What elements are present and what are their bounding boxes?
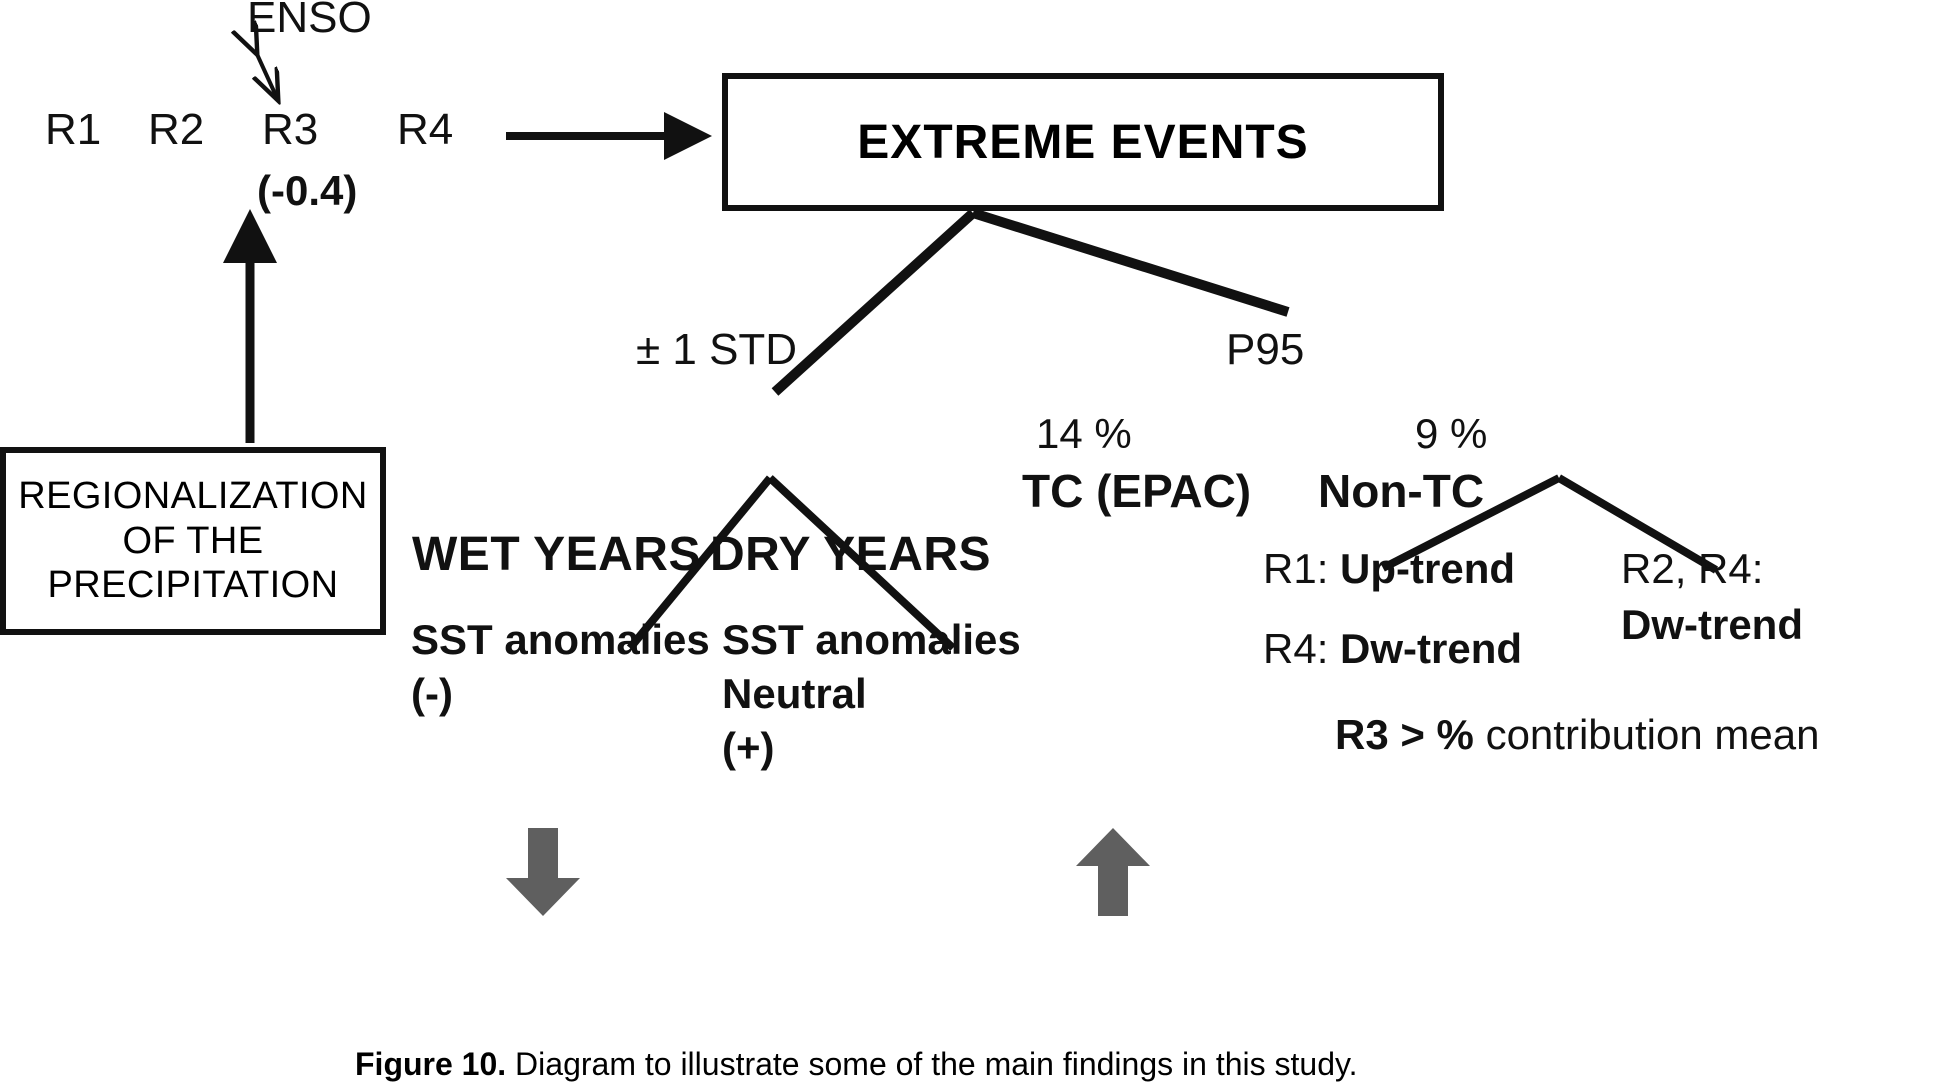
tc-trend-r4-value: Dw-trend (1340, 625, 1522, 672)
tc-trend-r1: R1: Up-trend (1263, 548, 1515, 590)
r3-contribution-note: R3 > % contribution mean (1335, 714, 1819, 756)
regionalization-line-2: OF THE (18, 519, 367, 564)
dry-sst-sign: (+) (722, 727, 775, 769)
region-label-r2: R2 (148, 108, 204, 152)
non-tc-trend-regions: R2, R4: (1621, 548, 1763, 590)
extreme-to-std-line (775, 213, 973, 392)
region-label-r3: R3 (262, 108, 318, 152)
tc-trend-r4: R4: Dw-trend (1263, 628, 1522, 670)
figure-caption-text: Diagram to illustrate some of the main f… (506, 1046, 1357, 1082)
tc-epac-title: TC (EPAC) (1022, 468, 1251, 514)
extreme-events-title: EXTREME EVENTS (857, 115, 1308, 170)
dry-sst-neutral-label: Neutral (722, 673, 867, 715)
extreme-to-p95-line (973, 213, 1288, 312)
branch-label-std: ± 1 STD (636, 328, 797, 372)
enso-correlation-value: (-0.4) (257, 170, 357, 212)
wet-sst-sign: (-) (411, 673, 453, 715)
regionalization-box: REGIONALIZATION OF THE PRECIPITATION (0, 447, 386, 635)
up-arrow-icon (1072, 828, 1154, 916)
figure-caption: Figure 10. Diagram to illustrate some of… (355, 1046, 1358, 1083)
tc-trend-r4-prefix: R4: (1263, 625, 1340, 672)
r3-note-prefix: R3 > % (1335, 711, 1486, 758)
tc-trend-r1-prefix: R1: (1263, 545, 1340, 592)
regionalization-box-label: REGIONALIZATION OF THE PRECIPITATION (18, 474, 367, 608)
non-tc-percent-label: 9 % (1415, 413, 1487, 455)
enso-label: ENSO (247, 0, 372, 40)
diagram-canvas: ENSO R1 R2 R3 R4 (-0.4) REGIONALIZATION … (0, 0, 1936, 1086)
extreme-events-box: EXTREME EVENTS (722, 73, 1444, 211)
wet-years-title: WET YEARS (412, 531, 701, 579)
wet-sst-anomalies-label: SST anomalies (411, 619, 710, 661)
tc-trend-r1-value: Up-trend (1340, 545, 1515, 592)
branch-label-p95: P95 (1226, 328, 1304, 372)
regionalization-line-3: PRECIPITATION (18, 563, 367, 608)
down-arrow-icon (499, 828, 587, 916)
region-label-r1: R1 (45, 108, 101, 152)
non-tc-title: Non-TC (1318, 468, 1484, 514)
non-tc-trend-value: Dw-trend (1621, 604, 1803, 646)
tc-percent-label: 14 % (1036, 413, 1132, 455)
figure-caption-number: Figure 10. (355, 1046, 506, 1082)
r3-note-text: contribution mean (1486, 711, 1820, 758)
regionalization-line-1: REGIONALIZATION (18, 474, 367, 519)
dry-years-title: DRY YEARS (710, 531, 991, 579)
enso-r3-double-arrow (256, 52, 277, 98)
dry-sst-anomalies-label: SST anomalies (722, 619, 1021, 661)
region-label-r4: R4 (397, 108, 453, 152)
